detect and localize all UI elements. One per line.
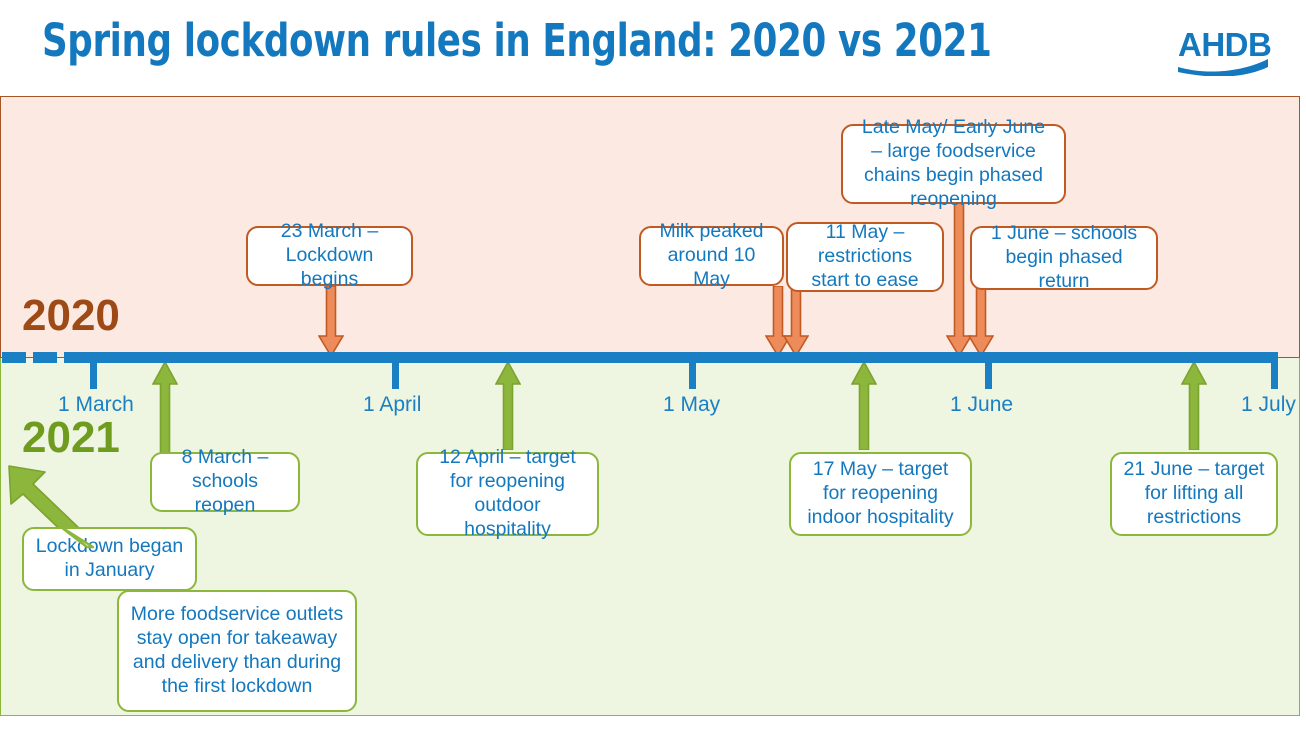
callout-23-march: 23 March – Lockdown begins [246, 226, 413, 286]
connector-arrow-23-march [318, 286, 344, 358]
callout-21-june: 21 June – target for lifting all restric… [1110, 452, 1278, 536]
callout-12-april: 12 April – target for reopening outdoor … [416, 452, 599, 536]
callout-1-june-schools: 1 June – schools begin phased return [970, 226, 1158, 290]
svg-text:AHDB: AHDB [1178, 26, 1271, 63]
connector-arrow-17-may [851, 362, 877, 450]
ahdb-logo-icon: AHDB [1176, 24, 1272, 76]
callout-11-may: 11 May – restrictions start to ease [786, 222, 944, 292]
connector-arrow-11-may [783, 286, 809, 358]
header: Spring lockdown rules in England: 2020 v… [0, 0, 1306, 96]
callout-milk-peaked: Milk peaked around 10 May [639, 226, 784, 286]
year-label-2020: 2020 [22, 291, 120, 341]
connector-arrow-1-june-schools [968, 286, 994, 358]
connector-arrow-21-june [1181, 362, 1207, 450]
page-title: Spring lockdown rules in England: 2020 v… [42, 14, 992, 67]
callout-8-march: 8 March – schools reopen [150, 452, 300, 512]
callout-late-may-early-june: Late May/ Early June – large foodservice… [841, 124, 1066, 204]
year-label-2021: 2021 [22, 413, 120, 463]
callout-more-foodservice-outlets: More foodservice outlets stay open for t… [117, 590, 357, 712]
ahdb-logo: AHDB [1176, 24, 1272, 76]
connector-arrow-12-april [495, 362, 521, 450]
connector-arrow-8-march [152, 362, 178, 460]
speech-bubble-tail [57, 525, 97, 554]
callout-lockdown-began-january: Lockdown began in January [22, 527, 197, 591]
callout-17-may: 17 May – target for reopening indoor hos… [789, 452, 972, 536]
